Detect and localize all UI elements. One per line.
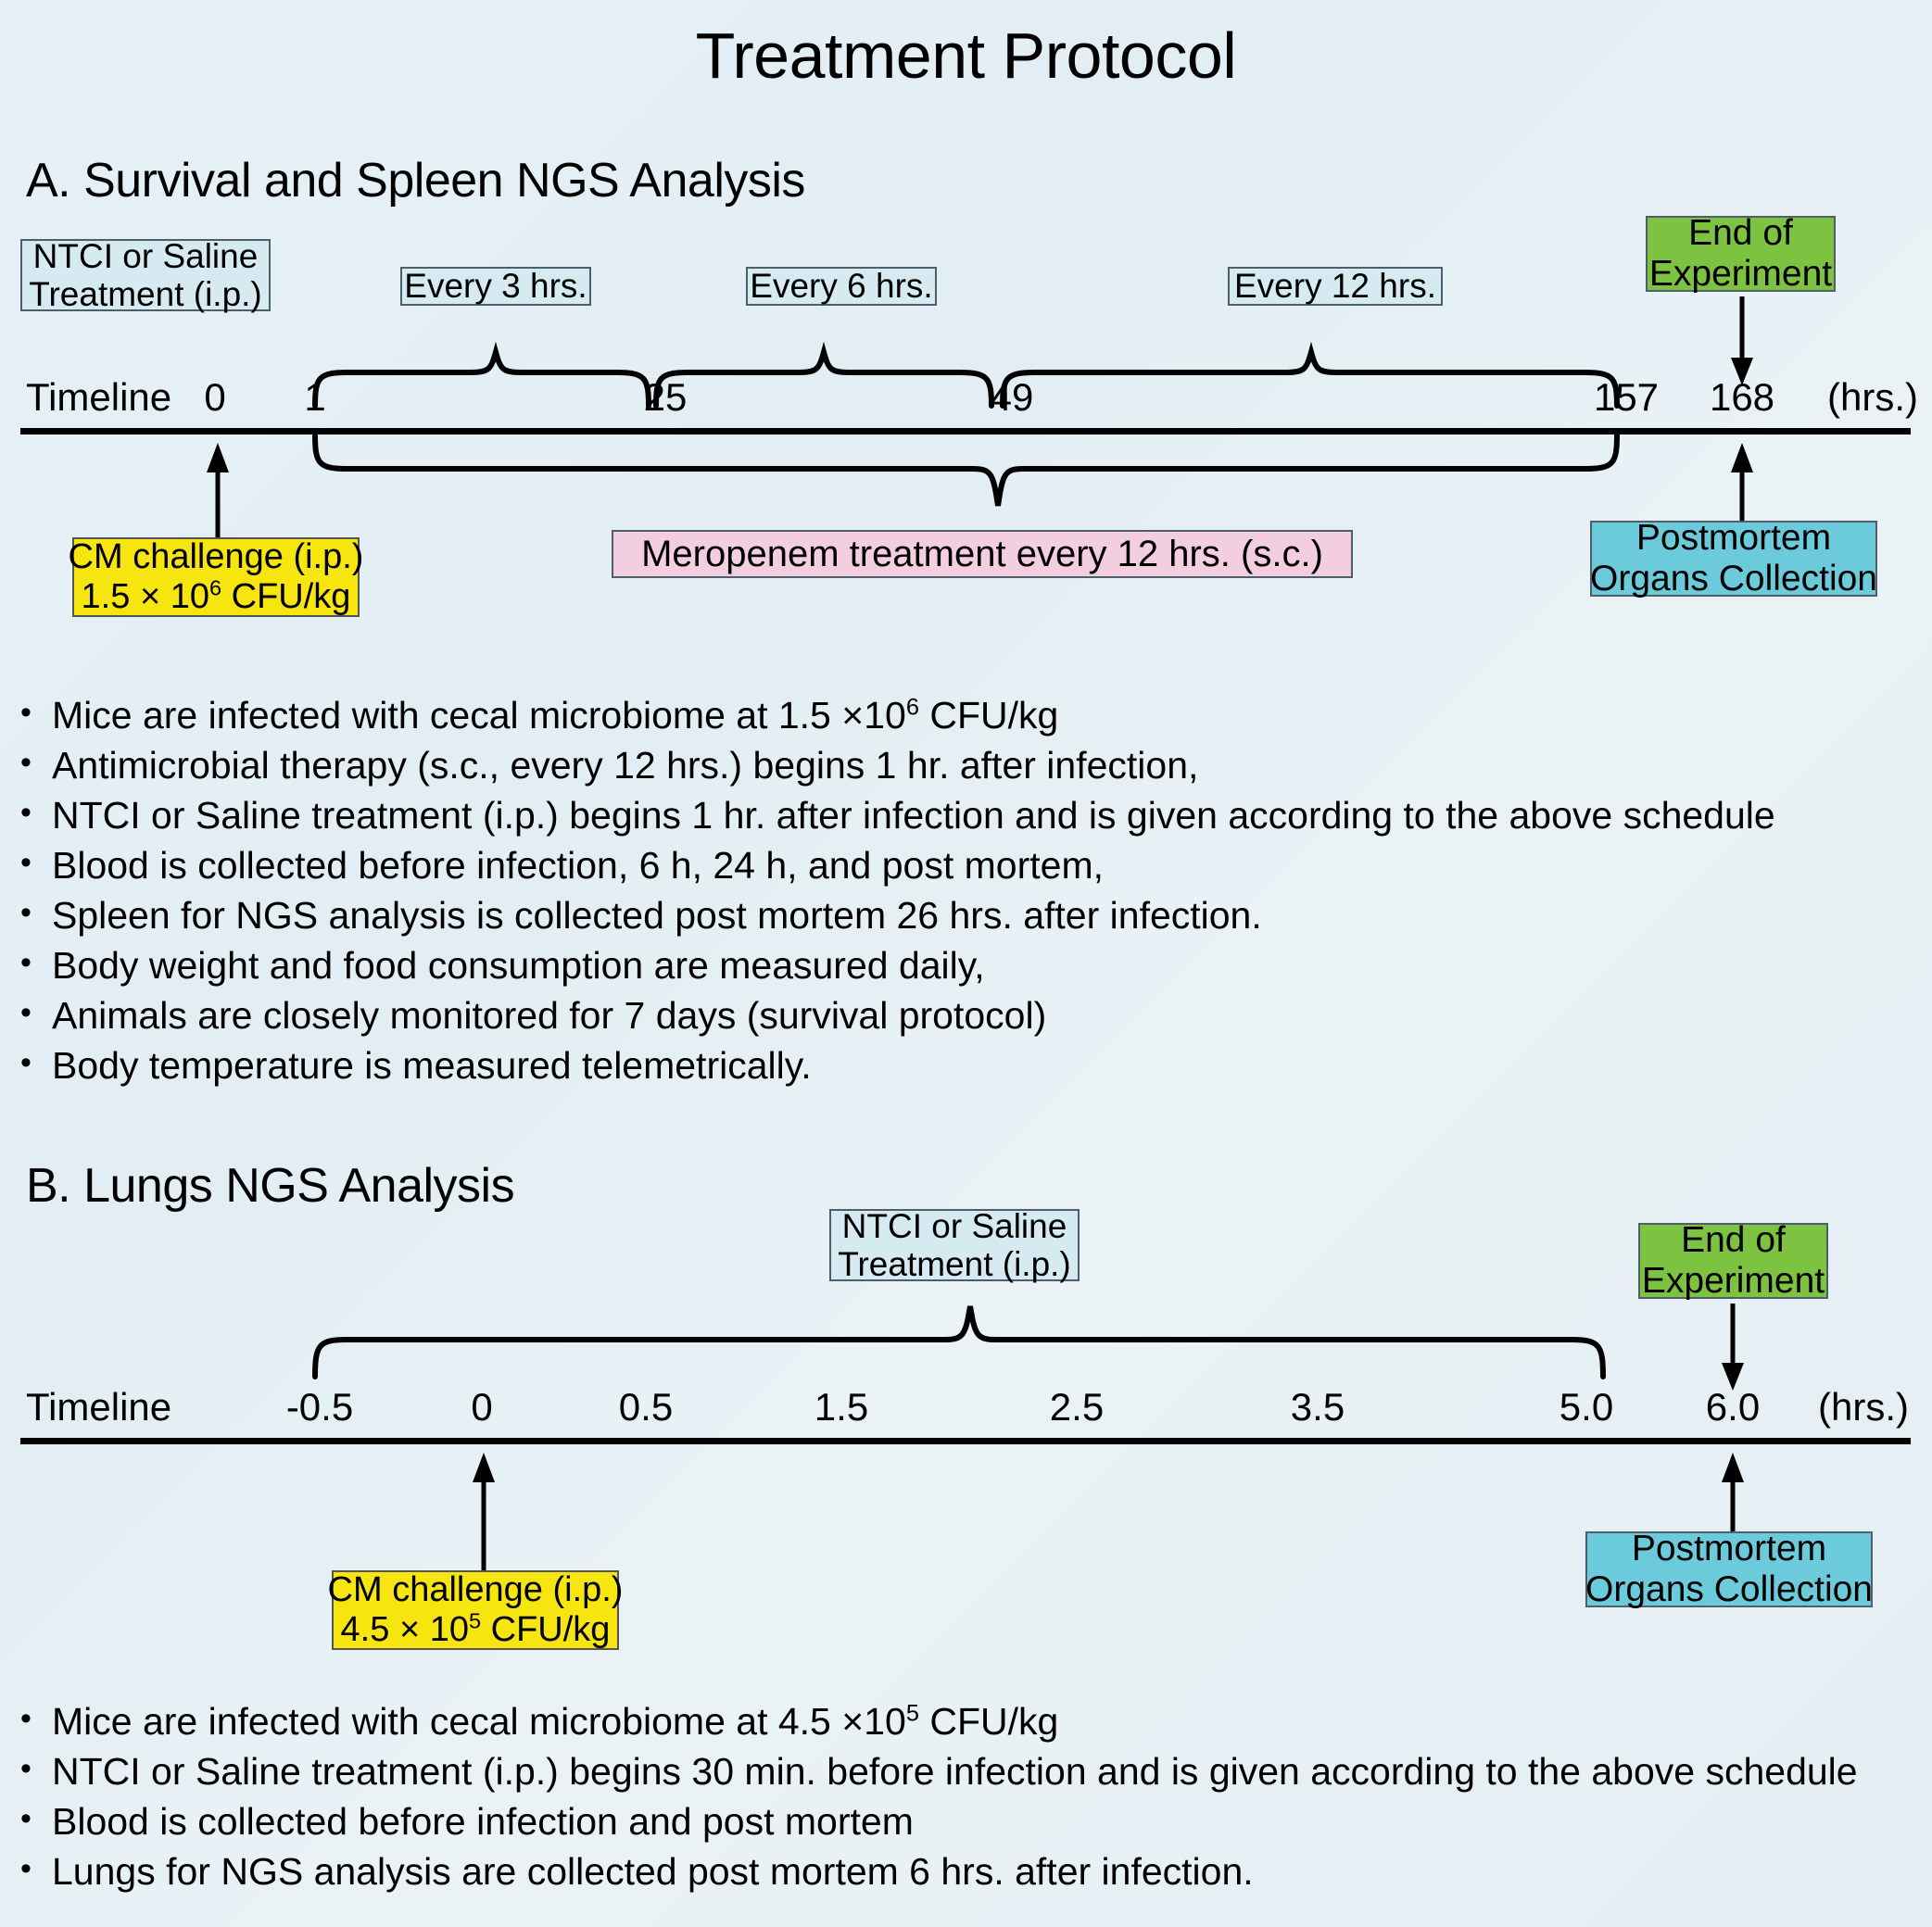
bullet-icon: •: [20, 797, 52, 830]
cm-challenge-line2: 1.5 × 106 CFU/kg: [82, 577, 351, 617]
postmortem-line1: Postmortem: [1636, 518, 1831, 559]
section-b-tick-6.0: 6.0: [1706, 1385, 1760, 1430]
section-b-tick-3.5: 3.5: [1291, 1385, 1345, 1430]
list-item: • Antimicrobial therapy (s.c., every 12 …: [20, 747, 1892, 785]
bullet-icon: •: [20, 897, 52, 930]
section-a-tick-0: 0: [204, 375, 225, 420]
bullet-icon: •: [20, 1047, 52, 1080]
list-item-text: Mice are infected with cecal microbiome …: [52, 1703, 1058, 1741]
list-item-text: Mice are infected with cecal microbiome …: [52, 697, 1058, 735]
section-a-meropenem-brace: [306, 434, 1626, 526]
bullet-icon: •: [20, 1803, 52, 1836]
section-b-timeline-axis: [20, 1438, 1911, 1444]
section-a-timeline-word: Timeline: [26, 375, 171, 420]
section-b-cm-challenge-arrow-up-icon: [461, 1453, 507, 1573]
section-b-tick-0: 0: [471, 1385, 492, 1430]
list-item: • NTCI or Saline treatment (i.p.) begins…: [20, 1753, 1892, 1791]
section-a-top-braces: [306, 324, 1626, 408]
list-item: • NTCI or Saline treatment (i.p.) begins…: [20, 797, 1892, 835]
section-a-meropenem-box: Meropenem treatment every 12 hrs. (s.c.): [612, 530, 1353, 578]
section-a-tick-49: 49: [991, 375, 1034, 420]
ntci-box-line1: NTCI or Saline: [33, 237, 259, 275]
list-item-text: Animals are closely monitored for 7 days…: [52, 997, 1046, 1035]
section-b-treatment-brace: [306, 1288, 1612, 1380]
bullet-icon: •: [20, 1703, 52, 1736]
list-item-text: Lungs for NGS analysis are collected pos…: [52, 1853, 1254, 1891]
every-6-hrs-label: Every 6 hrs.: [750, 267, 932, 305]
section-a-tick-1: 1: [304, 375, 325, 420]
cm-challenge-line2: 4.5 × 105 CFU/kg: [341, 1610, 611, 1650]
bullet-icon: •: [20, 697, 52, 730]
ntci-box-line2: Treatment (i.p.): [838, 1245, 1071, 1283]
section-b-tick-2.5: 2.5: [1050, 1385, 1104, 1430]
bullet-icon: •: [20, 997, 52, 1030]
page-title: Treatment Protocol: [0, 20, 1932, 92]
end-box-line1: End of: [1688, 213, 1793, 254]
list-item: • Mice are infected with cecal microbiom…: [20, 697, 1892, 735]
postmortem-line1: Postmortem: [1632, 1529, 1826, 1569]
end-box-line2: Experiment: [1649, 254, 1832, 295]
section-a-heading: A. Survival and Spleen NGS Analysis: [26, 153, 805, 208]
ntci-box-line1: NTCI or Saline: [842, 1207, 1067, 1245]
list-item: • Blood is collected before infection an…: [20, 1803, 1892, 1841]
list-item-text: Blood is collected before infection and …: [52, 1803, 914, 1841]
section-a-every-3-hrs-box: Every 3 hrs.: [400, 267, 591, 306]
list-item: • Blood is collected before infection, 6…: [20, 847, 1892, 885]
section-a-cm-challenge-box: CM challenge (i.p.) 1.5 × 106 CFU/kg: [72, 537, 360, 617]
section-a-tick-157: 157: [1594, 375, 1659, 420]
section-b-tick-5.0: 5.0: [1559, 1385, 1613, 1430]
section-b-end-arrow-down-icon: [1710, 1304, 1756, 1396]
list-item: • Mice are infected with cecal microbiom…: [20, 1703, 1892, 1741]
list-item: • Body weight and food consumption are m…: [20, 947, 1892, 985]
section-b-bullet-list: • Mice are infected with cecal microbiom…: [20, 1703, 1892, 1903]
section-a-every-6-hrs-box: Every 6 hrs.: [746, 267, 937, 306]
list-item-text: NTCI or Saline treatment (i.p.) begins 3…: [52, 1753, 1858, 1791]
section-b-end-of-experiment-box: End of Experiment: [1638, 1223, 1828, 1299]
list-item: • Body temperature is measured telemetri…: [20, 1047, 1892, 1085]
section-a-ntci-treatment-box: NTCI or Saline Treatment (i.p.): [20, 239, 271, 311]
section-a-end-of-experiment-box: End of Experiment: [1646, 216, 1836, 292]
list-item: • Animals are closely monitored for 7 da…: [20, 997, 1892, 1035]
ntci-box-line2: Treatment (i.p.): [29, 275, 262, 313]
section-a-every-12-hrs-box: Every 12 hrs.: [1228, 267, 1443, 306]
section-b-heading: B. Lungs NGS Analysis: [26, 1158, 514, 1214]
bullet-icon: •: [20, 1753, 52, 1786]
section-b-tick-1.5: 1.5: [814, 1385, 868, 1430]
bullet-icon: •: [20, 847, 52, 880]
list-item-text: Body temperature is measured telemetrica…: [52, 1047, 812, 1085]
section-a-postmortem-box: Postmortem Organs Collection: [1590, 521, 1877, 597]
list-item-text: Body weight and food consumption are mea…: [52, 947, 985, 985]
section-b-ntci-treatment-box: NTCI or Saline Treatment (i.p.): [829, 1209, 1080, 1281]
protocol-figure: Treatment Protocol A. Survival and Splee…: [0, 0, 1932, 1927]
bullet-icon: •: [20, 947, 52, 980]
section-b-cm-challenge-box: CM challenge (i.p.) 4.5 × 105 CFU/kg: [332, 1570, 619, 1650]
every-12-hrs-label: Every 12 hrs.: [1234, 267, 1436, 305]
bullet-icon: •: [20, 747, 52, 780]
list-item: • Lungs for NGS analysis are collected p…: [20, 1853, 1892, 1891]
section-b-tick-0.5: 0.5: [619, 1385, 673, 1430]
section-b-postmortem-box: Postmortem Organs Collection: [1585, 1531, 1873, 1607]
postmortem-line2: Organs Collection: [1590, 559, 1877, 599]
postmortem-line2: Organs Collection: [1585, 1569, 1873, 1610]
section-a-bullet-list: • Mice are infected with cecal microbiom…: [20, 697, 1892, 1097]
list-item-text: Spleen for NGS analysis is collected pos…: [52, 897, 1262, 935]
end-box-line1: End of: [1681, 1220, 1786, 1261]
end-box-line2: Experiment: [1642, 1261, 1825, 1302]
cm-challenge-line1: CM challenge (i.p.): [69, 537, 364, 577]
section-a-tick-25: 25: [644, 375, 688, 420]
section-b-units-label: (hrs.): [1818, 1385, 1909, 1430]
every-3-hrs-label: Every 3 hrs.: [404, 267, 587, 305]
bullet-icon: •: [20, 1853, 52, 1886]
section-b-timeline-word: Timeline: [26, 1385, 171, 1430]
section-a-units-label: (hrs.): [1827, 375, 1918, 420]
cm-challenge-line1: CM challenge (i.p.): [328, 1570, 624, 1610]
list-item: • Spleen for NGS analysis is collected p…: [20, 897, 1892, 935]
meropenem-label: Meropenem treatment every 12 hrs. (s.c.): [641, 534, 1323, 575]
section-a-tick-168: 168: [1710, 375, 1774, 420]
list-item-text: NTCI or Saline treatment (i.p.) begins 1…: [52, 797, 1775, 835]
section-b-tick--0.5: -0.5: [286, 1385, 353, 1430]
list-item-text: Blood is collected before infection, 6 h…: [52, 847, 1104, 885]
list-item-text: Antimicrobial therapy (s.c., every 12 hr…: [52, 747, 1198, 785]
